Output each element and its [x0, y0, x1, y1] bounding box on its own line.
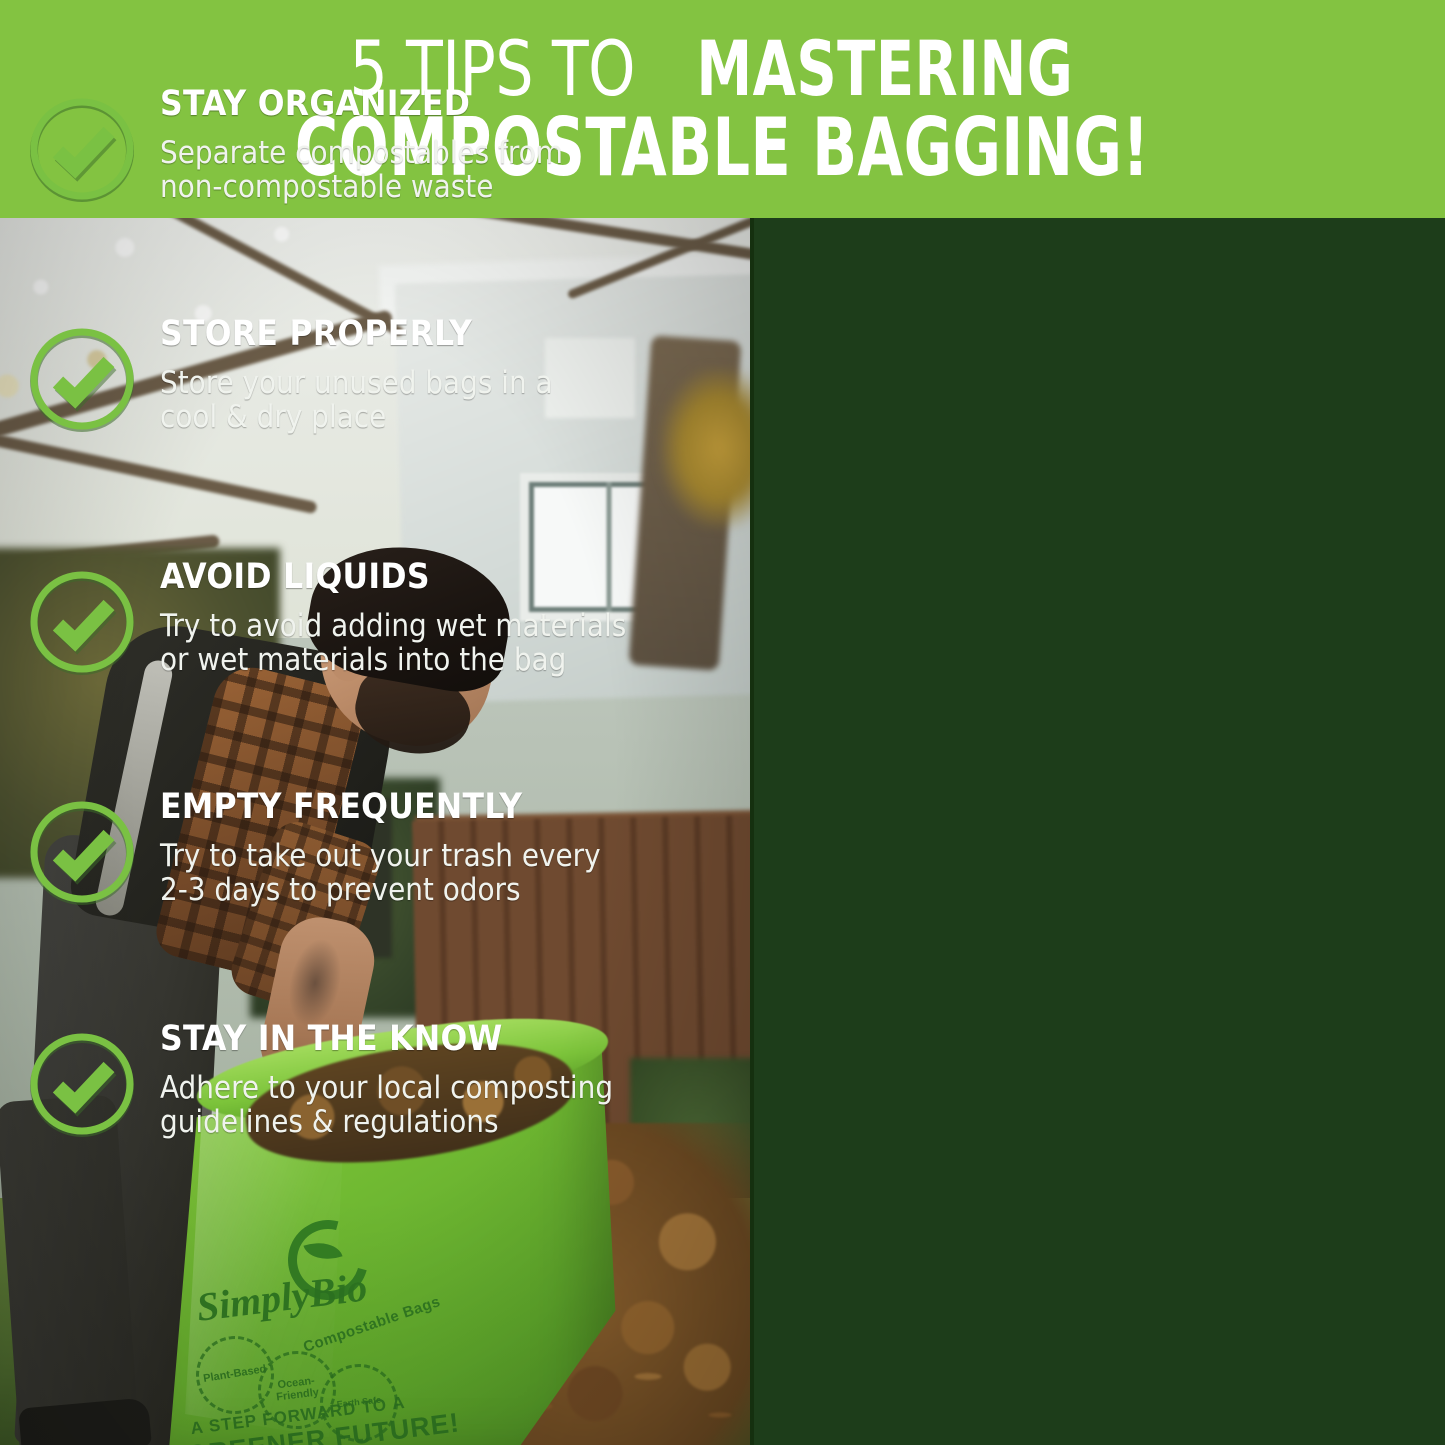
tip-text-block: STORE PROPERLY Store your unused bags in…	[160, 314, 553, 435]
check-circle-glyph	[28, 799, 136, 907]
tip-description: Try to avoid adding wet materials or wet…	[160, 609, 626, 678]
tip-text-block: AVOID LIQUIDS Try to avoid adding wet ma…	[160, 557, 626, 678]
tip-description: Separate compostables from non-compostab…	[160, 136, 563, 205]
tip-item: EMPTY FREQUENTLY Try to take out your tr…	[28, 787, 688, 937]
tip-description: Try to take out your trash every 2-3 day…	[160, 839, 601, 908]
check-circle-icon	[28, 326, 136, 434]
check-circle-icon	[28, 1031, 136, 1139]
check-circle-glyph	[28, 96, 136, 204]
tip-text-block: EMPTY FREQUENTLY Try to take out your tr…	[160, 787, 601, 908]
tip-description: Adhere to your local composting guidelin…	[160, 1071, 613, 1140]
check-circle-glyph	[28, 569, 136, 677]
check-circle-glyph	[28, 1031, 136, 1139]
check-circle-icon	[28, 96, 136, 204]
tip-item: STAY ORGANIZED Separate compostables fro…	[28, 84, 688, 234]
tip-heading: STAY IN THE KNOW	[160, 1021, 613, 1058]
tip-item: AVOID LIQUIDS Try to avoid adding wet ma…	[28, 557, 688, 707]
infographic-poster: 5 TIPS TO MASTERING COMPOSTABLE BAGGING!	[0, 0, 1445, 1445]
check-circle-glyph	[28, 326, 136, 434]
tip-description: Store your unused bags in a cool & dry p…	[160, 366, 553, 435]
tip-heading: AVOID LIQUIDS	[160, 559, 626, 596]
tip-item: STORE PROPERLY Store your unused bags in…	[28, 314, 688, 464]
check-circle-icon	[28, 569, 136, 677]
tip-text-block: STAY IN THE KNOW Adhere to your local co…	[160, 1019, 613, 1140]
tip-heading: EMPTY FREQUENTLY	[160, 789, 601, 826]
title-bold-part: MASTERING	[696, 34, 1073, 104]
panel-divider	[750, 218, 754, 1445]
tip-text-block: STAY ORGANIZED Separate compostables fro…	[160, 84, 563, 205]
tip-heading: STORE PROPERLY	[160, 316, 553, 353]
tip-item: STAY IN THE KNOW Adhere to your local co…	[28, 1019, 688, 1169]
tips-panel	[750, 218, 1445, 1445]
tip-heading: STAY ORGANIZED	[160, 86, 563, 123]
check-circle-icon	[28, 799, 136, 907]
